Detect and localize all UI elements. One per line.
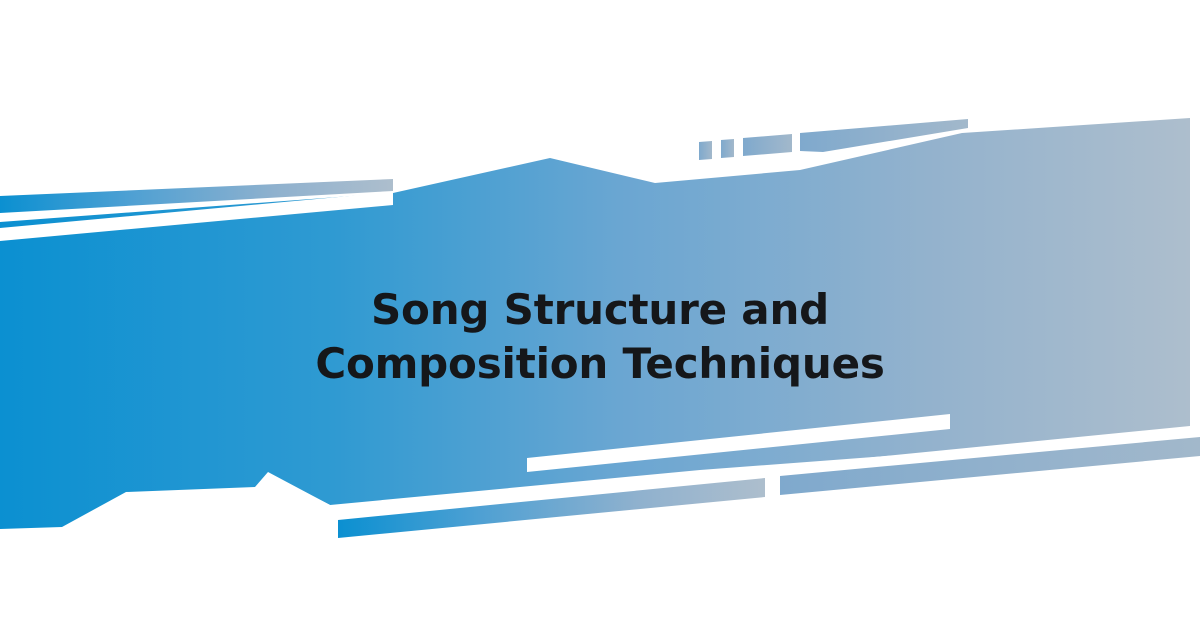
top-right-dash-medium <box>743 134 792 156</box>
top-right-dash-small-2 <box>721 139 734 158</box>
banner-card: Song Structure and Composition Technique… <box>0 0 1200 630</box>
top-right-dash-small-1 <box>699 141 712 160</box>
decorative-background-graphic <box>0 0 1200 630</box>
